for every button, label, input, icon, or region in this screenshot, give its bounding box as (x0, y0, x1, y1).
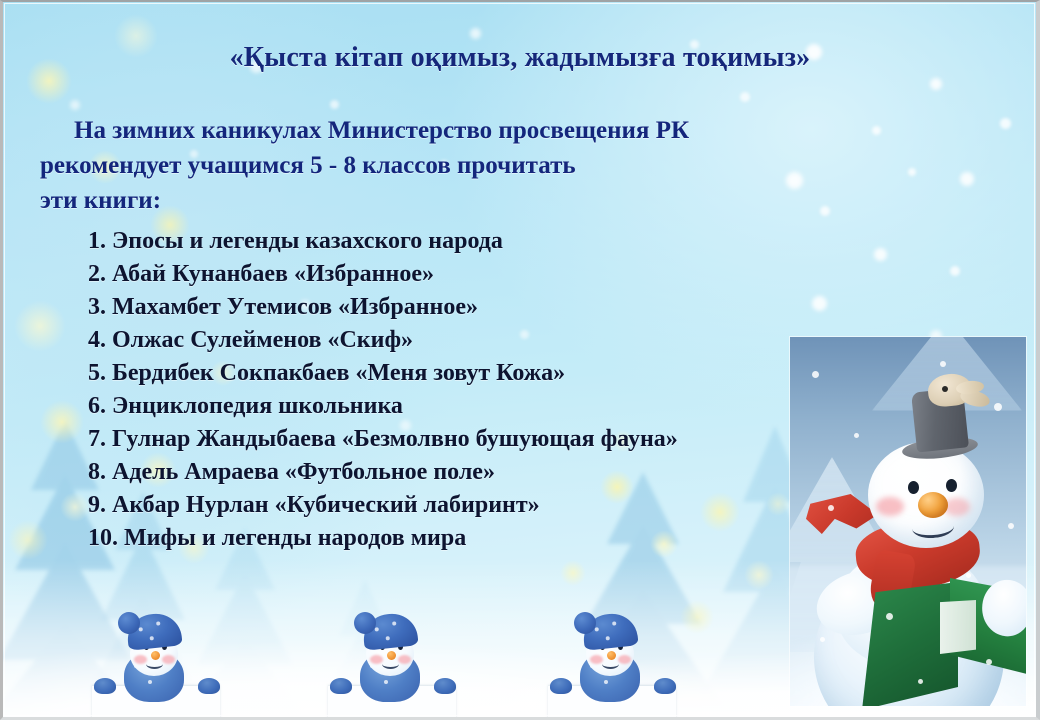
mitten-icon (198, 678, 220, 694)
intro-paragraph: На зимних каникулах Министерство просвещ… (40, 113, 870, 218)
intro-line-2: рекомендует учащимся 5 - 8 классов прочи… (40, 148, 870, 183)
list-item: 6. Энциклопедия школьника (88, 390, 678, 423)
mini-snowman-1 (96, 616, 216, 720)
presentation-slide: «Қыста кітап оқимыз, жадымызға тоқимыз» … (0, 0, 1040, 720)
mitten-icon (94, 678, 116, 694)
photo-snowflake (918, 679, 923, 684)
recommended-books-list: 1. Эпосы и легенды казахского народа 2. … (88, 225, 678, 555)
list-item: 4. Олжас Сулейменов «Скиф» (88, 324, 678, 357)
photo-snowflake (812, 371, 819, 378)
hat-pompom (118, 612, 140, 634)
mitten-icon (434, 678, 456, 694)
snowman-eye (908, 481, 919, 494)
list-item: 3. Махамбет Утемисов «Избранное» (88, 291, 678, 324)
mini-snowman-cheek (398, 655, 411, 664)
hat-pompom (574, 612, 596, 634)
list-item: 2. Абай Кунанбаев «Избранное» (88, 258, 678, 291)
photo-snowflake (940, 361, 946, 367)
green-book-page-edge (940, 600, 976, 654)
slide-title: «Қыста кітап оқимыз, жадымызға тоқимыз» (0, 42, 1040, 74)
mitten-icon (654, 678, 676, 694)
photo-snowflake (1008, 523, 1014, 529)
list-item: 10. Мифы и легенды народов мира (88, 522, 678, 555)
mitten-icon (330, 678, 352, 694)
mitten-icon (550, 678, 572, 694)
bunny-eye (942, 386, 948, 392)
snowman-cheek (944, 498, 970, 516)
mini-snowman-cheek (162, 655, 175, 664)
mini-snowman-cheek (618, 655, 631, 664)
mini-snowman-3 (552, 616, 672, 720)
intro-line-1: На зимних каникулах Министерство просвещ… (40, 113, 870, 148)
snowman-reading-photo (790, 337, 1026, 706)
intro-line-3: эти книги: (40, 183, 870, 218)
list-item: 8. Адель Амраева «Футбольное поле» (88, 456, 678, 489)
list-item: 1. Эпосы и легенды казахского народа (88, 225, 678, 258)
list-item: 7. Гулнар Жандыбаева «Безмолвно бушующая… (88, 423, 678, 456)
photo-snowflake (986, 659, 992, 665)
photo-snowflake (966, 573, 971, 578)
list-item: 5. Бердибек Сокпакбаев «Меня зовут Кожа» (88, 357, 678, 390)
hat-pompom (354, 612, 376, 634)
mini-snowman-2 (332, 616, 452, 720)
photo-snowflake (900, 459, 905, 464)
photo-snowflake (994, 403, 1002, 411)
carrot-nose (918, 492, 948, 518)
list-item: 9. Акбар Нурлан «Кубический лабиринт» (88, 489, 678, 522)
mini-snowman-mouth (602, 659, 619, 669)
mini-snowman-mouth (146, 659, 163, 669)
snowman-cheek (876, 497, 904, 516)
photo-snowflake (854, 433, 859, 438)
photo-snowflake (886, 613, 893, 620)
photo-snowflake (820, 637, 825, 642)
mini-snowman-mouth (382, 659, 399, 669)
photo-snowflake (828, 505, 834, 511)
snowman-eye (946, 479, 957, 492)
